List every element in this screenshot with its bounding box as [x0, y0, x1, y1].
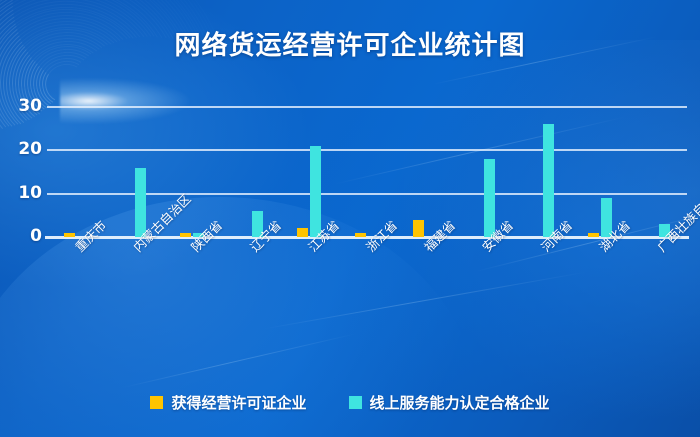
legend: 获得经营许可证企业线上服务能力认定合格企业	[0, 392, 700, 413]
bar[interactable]	[297, 228, 308, 237]
chart-canvas: 网络货运经营许可企业统计图 0102030 重庆市内蒙古自治区陕西省辽宁省江苏省…	[0, 0, 700, 437]
bar[interactable]	[588, 233, 599, 237]
bar[interactable]	[543, 124, 554, 237]
bar[interactable]	[310, 146, 321, 237]
y-axis: 0102030	[0, 98, 42, 237]
legend-item[interactable]: 线上服务能力认定合格企业	[349, 392, 550, 413]
legend-item[interactable]: 获得经营许可证企业	[150, 392, 306, 413]
legend-label: 获得经营许可证企业	[171, 392, 306, 413]
legend-swatch-icon	[150, 396, 163, 409]
bar[interactable]	[355, 233, 366, 237]
y-axis-tick-label: 0	[0, 226, 42, 246]
bar[interactable]	[413, 220, 424, 237]
plot-area	[47, 98, 687, 237]
bar[interactable]	[64, 233, 75, 237]
gridline	[47, 106, 687, 108]
legend-label: 线上服务能力认定合格企业	[370, 392, 550, 413]
legend-swatch-icon	[349, 396, 362, 409]
chart-title: 网络货运经营许可企业统计图	[0, 25, 700, 62]
y-axis-tick-label: 10	[0, 183, 42, 203]
y-axis-tick-label: 20	[0, 139, 42, 159]
gridline	[47, 149, 687, 151]
y-axis-tick-label: 30	[0, 96, 42, 116]
